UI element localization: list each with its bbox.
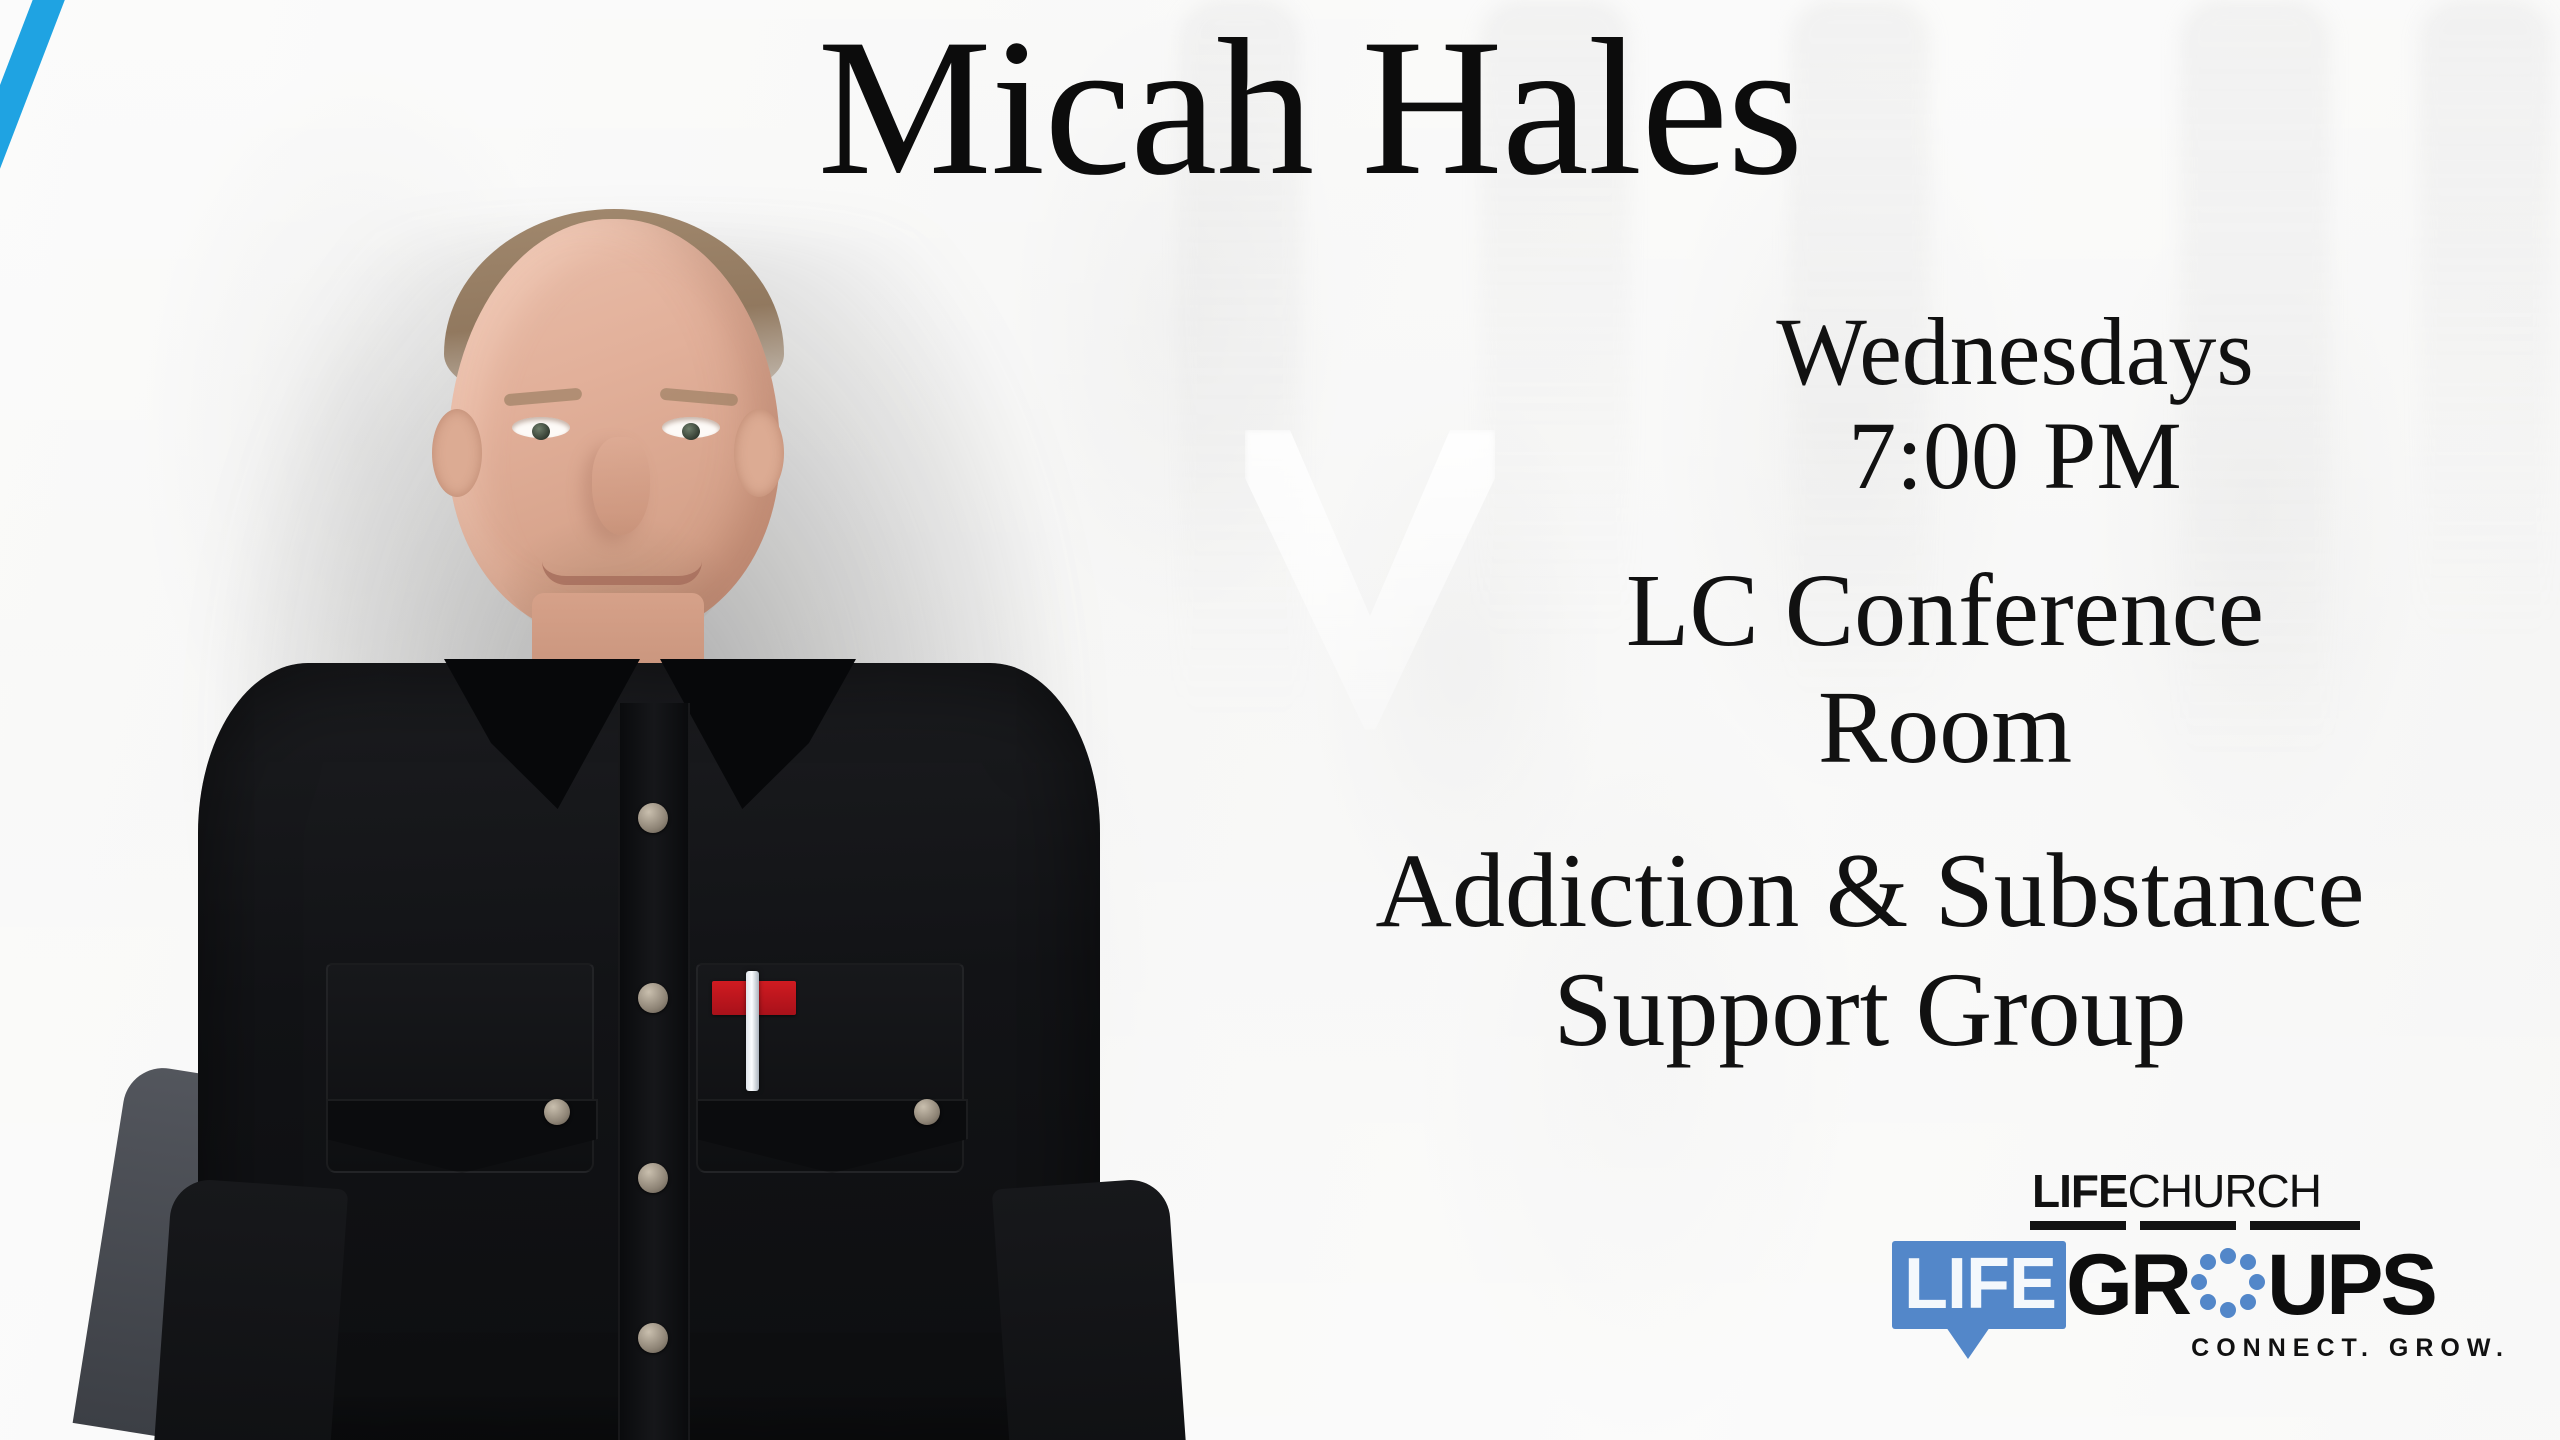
group-name-block: Addiction & Substance Support Group bbox=[1220, 832, 2520, 1069]
chest-pocket-left bbox=[326, 963, 594, 1173]
lifechurch-wordmark: LIFE CHURCH bbox=[2032, 1168, 2520, 1214]
pupil-right bbox=[682, 423, 700, 440]
lifechurch-underline-rule bbox=[2030, 1221, 2360, 1230]
group-name-line-2: Support Group bbox=[1220, 951, 2520, 1070]
group-name-line-1: Addiction & Substance bbox=[1220, 832, 2520, 951]
meeting-time-block: Wednesdays 7:00 PM bbox=[1510, 300, 2520, 507]
meeting-day: Wednesdays bbox=[1510, 300, 2520, 404]
lifechurch-life-text: LIFE bbox=[2032, 1168, 2128, 1214]
page-title: Micah Hales bbox=[690, 10, 1930, 206]
shirt-sleeve-left bbox=[144, 1177, 349, 1440]
shirt-button-2 bbox=[638, 983, 668, 1013]
smiling-mouth bbox=[542, 561, 702, 585]
groups-ups-text: UPS bbox=[2267, 1242, 2435, 1328]
pocket-button-right bbox=[914, 1099, 940, 1125]
shirt-button-1 bbox=[638, 803, 668, 833]
pocket-button-left bbox=[544, 1099, 570, 1125]
location-line-2: Room bbox=[1370, 670, 2520, 786]
logo-tagline: CONNECT. GROW. bbox=[2020, 1334, 2520, 1363]
collar-left bbox=[444, 659, 640, 809]
portrait-photo bbox=[80, 195, 1210, 1440]
lifegroups-promo-slide: Micah Hales Wednesdays 7:00 PM LC Confer… bbox=[0, 0, 2560, 1440]
eye-right bbox=[662, 417, 720, 438]
speech-bubble-icon: LIFE bbox=[1892, 1241, 2066, 1329]
ear-right bbox=[734, 409, 784, 497]
lifechurch-church-text: CHURCH bbox=[2128, 1168, 2321, 1214]
lifegroups-logo: LIFE CHURCH LIFE GR UPS CONNECT. GROW. bbox=[2020, 1168, 2520, 1378]
meeting-time: 7:00 PM bbox=[1510, 404, 2520, 508]
dotted-circle-o-icon bbox=[2191, 1248, 2265, 1322]
groups-gr-text: GR bbox=[2066, 1242, 2189, 1328]
shirt-button-4 bbox=[638, 1323, 668, 1353]
ear-left bbox=[432, 409, 482, 497]
shirt-button-3 bbox=[638, 1163, 668, 1193]
pen-icon bbox=[746, 971, 759, 1091]
location-line-1: LC Conference bbox=[1370, 553, 2520, 669]
pupil-left bbox=[532, 423, 550, 440]
black-button-up-shirt bbox=[198, 663, 1100, 1440]
lifegroups-wordmark: LIFE GR UPS bbox=[2020, 1238, 2520, 1332]
eye-left bbox=[512, 417, 570, 438]
meeting-location-block: LC Conference Room bbox=[1370, 553, 2520, 786]
shirt-sleeve-right bbox=[992, 1177, 1197, 1440]
event-details: Wednesdays 7:00 PM LC Conference Room Ad… bbox=[1220, 300, 2520, 1104]
